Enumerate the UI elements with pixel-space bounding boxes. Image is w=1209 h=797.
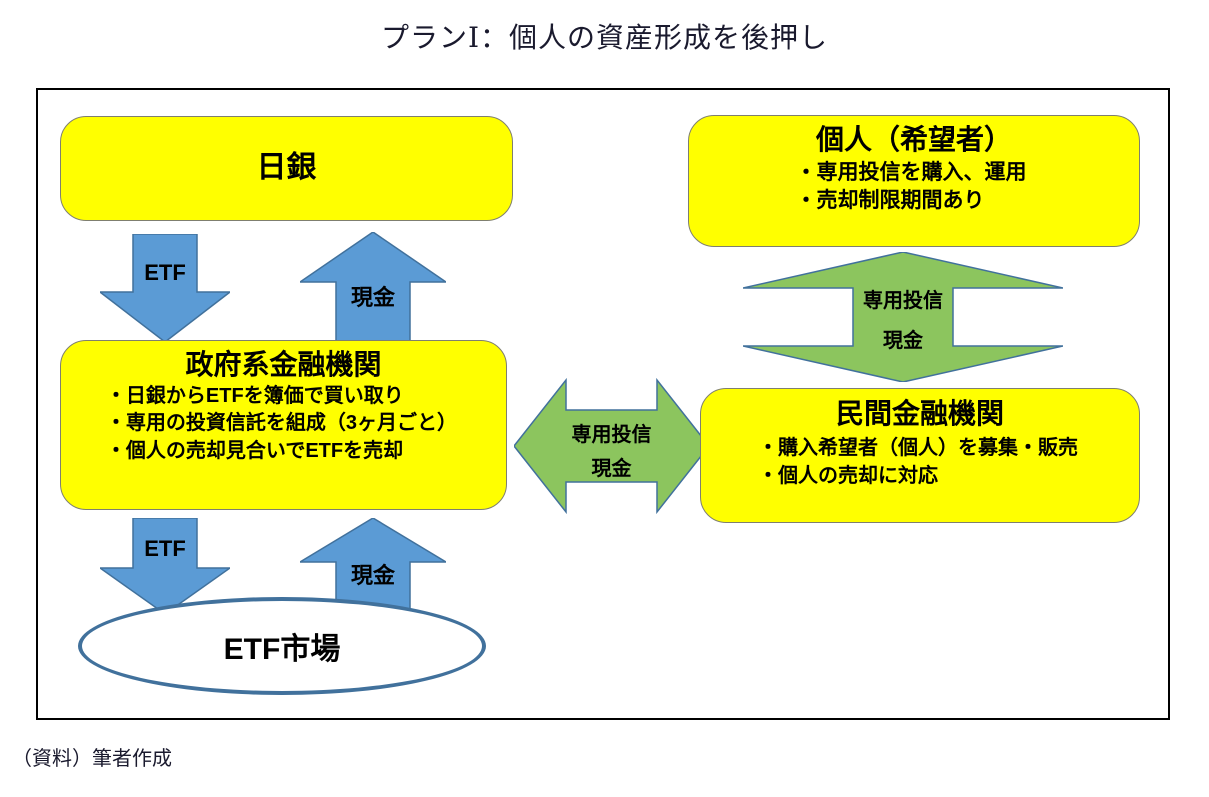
node-title-boj: 日銀 (257, 151, 317, 186)
bullet-item: ・専用の投資信託を組成（3ヶ月ごと） (106, 410, 457, 437)
arrow-label-gov-private-line1: 専用投信 (514, 418, 709, 447)
node-title-private: 民間金融機関 (701, 398, 1139, 430)
node-individual: 個人（希望者） ・専用投信を購入、運用 ・売却制限期間あり (688, 115, 1140, 247)
node-bank-of-japan: 日銀 (60, 116, 513, 221)
node-title-government: 政府系金融機関 (61, 349, 506, 381)
bullet-item: ・個人の売却に対応 (758, 462, 1078, 490)
bullet-item: ・購入希望者（個人）を募集・販売 (758, 434, 1078, 462)
bullet-item: ・個人の売却見合いでETFを売却 (106, 438, 457, 465)
arrow-label-cash-up-1: 現金 (300, 280, 446, 312)
arrow-individual-private-exchange: 専用投信 現金 (743, 252, 1063, 382)
arrow-label-etf-down-2: ETF (100, 536, 230, 562)
page-title: プランⅠ：個人の資産形成を後押し (0, 16, 1209, 56)
node-title-individual: 個人（希望者） (689, 124, 1139, 156)
bullet-item: ・日銀からETFを簿価で買い取り (106, 383, 457, 410)
arrow-label-individual-private-line2: 現金 (743, 324, 1063, 353)
bullet-item: ・売却制限期間あり (796, 187, 1027, 215)
node-government-financial-institution: 政府系金融機関 ・日銀からETFを簿価で買い取り ・専用の投資信託を組成（3ヶ月… (60, 340, 507, 510)
bullet-item: ・専用投信を購入、運用 (796, 159, 1027, 187)
arrow-label-cash-up-2: 現金 (300, 558, 446, 590)
arrow-gov-private-exchange: 専用投信 現金 (514, 372, 709, 520)
node-bullets-private: ・購入希望者（個人）を募集・販売 ・個人の売却に対応 (758, 434, 1078, 490)
arrow-label-individual-private-line1: 専用投信 (743, 284, 1063, 313)
arrow-boj-to-gov-etf: ETF (100, 234, 230, 342)
node-bullets-individual: ・専用投信を購入、運用 ・売却制限期間あり (796, 159, 1027, 214)
source-note: （資料）筆者作成 (12, 742, 172, 771)
node-private-financial-institution: 民間金融機関 ・購入希望者（個人）を募集・販売 ・個人の売却に対応 (700, 388, 1140, 523)
node-bullets-government: ・日銀からETFを簿価で買い取り ・専用の投資信託を組成（3ヶ月ごと） ・個人の… (106, 383, 457, 465)
node-etf-market: ETF市場 (78, 597, 486, 695)
arrow-label-etf-down-1: ETF (100, 260, 230, 286)
arrow-gov-to-boj-cash: 現金 (300, 232, 446, 342)
arrow-label-gov-private-line2: 現金 (514, 452, 709, 481)
node-title-etf-market: ETF市場 (224, 624, 341, 668)
